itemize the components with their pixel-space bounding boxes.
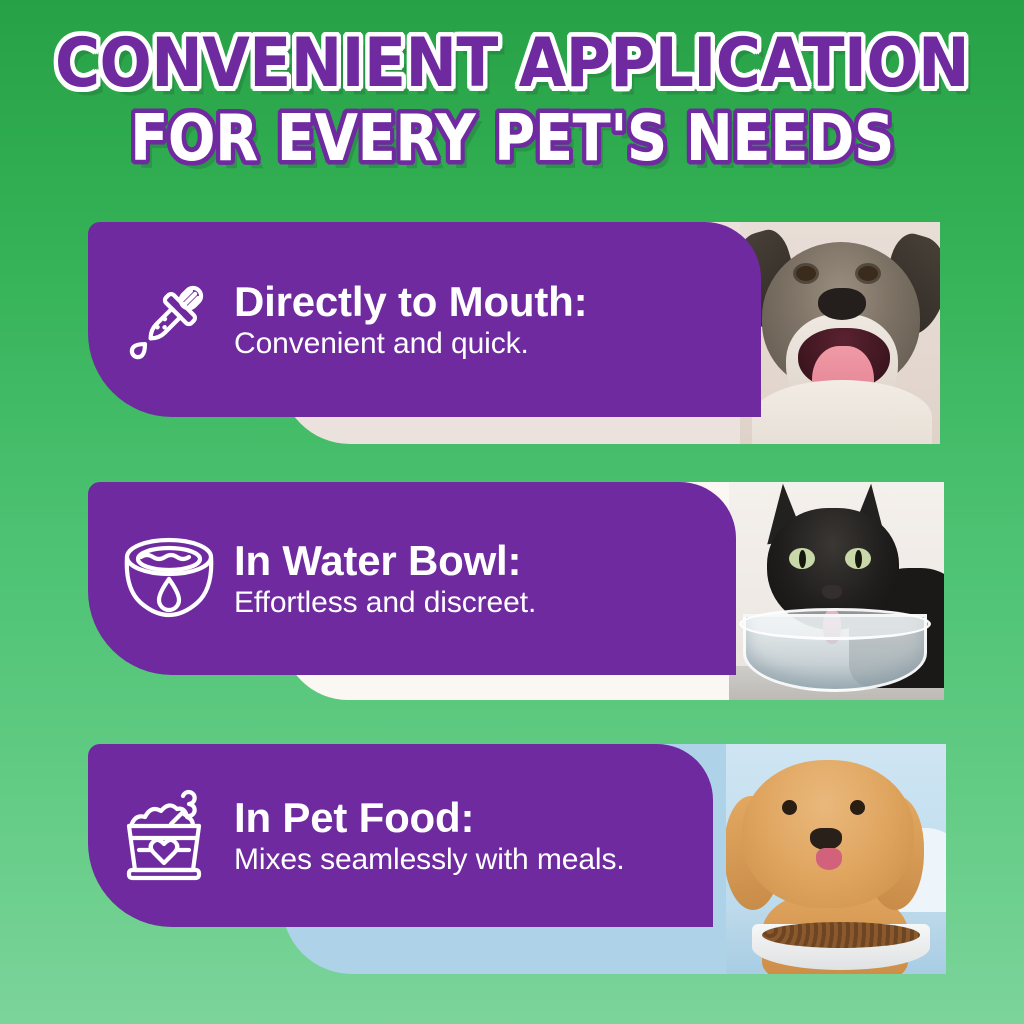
- infographic-poster: Convenient Application For Every Pet's N…: [0, 0, 1024, 1024]
- poodle-with-food-photo: [726, 744, 946, 974]
- card-text-in-water-bowl: In Water Bowl: Effortless and discreet.: [228, 538, 536, 618]
- happy-dog-photo: [740, 222, 940, 444]
- card-text-directly-to-mouth: Directly to Mouth: Convenient and quick.: [228, 279, 587, 359]
- card-subtitle-in-water-bowl: Effortless and discreet.: [234, 586, 536, 619]
- dropper-icon: [110, 261, 228, 379]
- water-bowl-icon: [110, 520, 228, 638]
- card-subtitle-directly-to-mouth: Convenient and quick.: [234, 327, 587, 360]
- page-title: Convenient Application For Every Pet's N…: [0, 34, 1024, 166]
- card-in-pet-food[interactable]: In Pet Food: Mixes seamlessly with meals…: [88, 744, 713, 927]
- card-row-in-pet-food: In Pet Food: Mixes seamlessly with meals…: [0, 744, 1024, 976]
- cat-drinking-photo: [729, 482, 944, 700]
- card-title-directly-to-mouth: Directly to Mouth:: [234, 279, 587, 324]
- title-line-1: Convenient Application: [0, 29, 1024, 96]
- card-title-in-pet-food: In Pet Food:: [234, 795, 625, 840]
- card-text-in-pet-food: In Pet Food: Mixes seamlessly with meals…: [228, 795, 625, 875]
- card-row-in-water-bowl: In Water Bowl: Effortless and discreet.: [0, 482, 1024, 704]
- title-line-2: For Every Pet's Needs: [0, 107, 1024, 171]
- card-directly-to-mouth[interactable]: Directly to Mouth: Convenient and quick.: [88, 222, 761, 417]
- card-row-directly-to-mouth: Directly to Mouth: Convenient and quick.: [0, 222, 1024, 447]
- card-title-in-water-bowl: In Water Bowl:: [234, 538, 536, 583]
- food-bowl-icon: [110, 777, 228, 895]
- card-in-water-bowl[interactable]: In Water Bowl: Effortless and discreet.: [88, 482, 736, 675]
- card-subtitle-in-pet-food: Mixes seamlessly with meals.: [234, 843, 625, 876]
